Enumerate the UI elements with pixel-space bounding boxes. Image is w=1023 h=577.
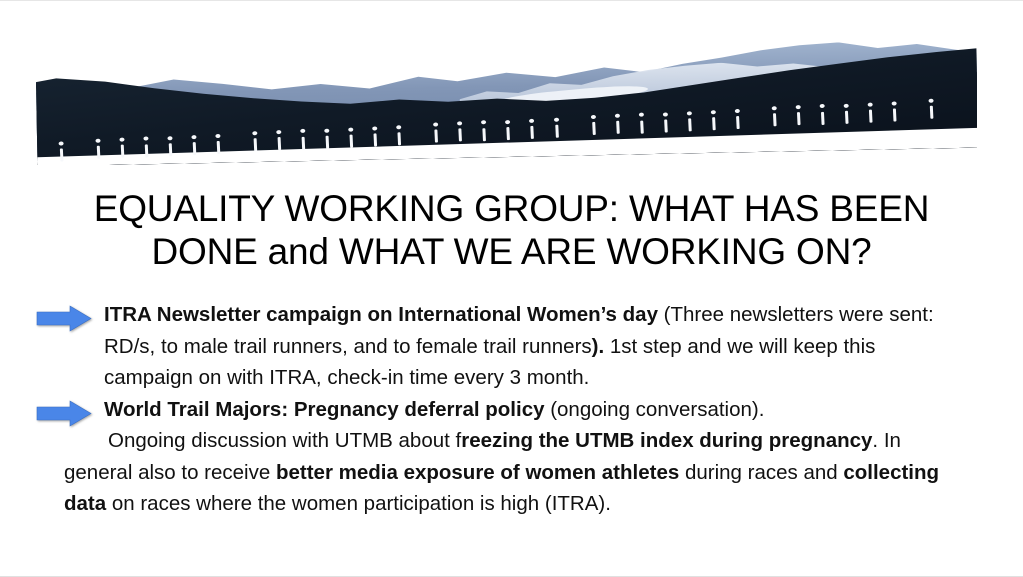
runner-silhouette xyxy=(60,149,64,162)
blue-right-arrow-icon xyxy=(36,400,92,427)
bullet-text-world-trail-majors: World Trail Majors: Pregnancy deferral p… xyxy=(104,398,764,421)
runner-silhouette xyxy=(688,118,692,131)
bullet-item-world-trail-majors: World Trail Majors: Pregnancy deferral p… xyxy=(64,394,964,426)
page-title-line-1: EQUALITY WORKING GROUP: WHAT HAS BEEN xyxy=(94,188,930,229)
slide-canvas: EQUALITY WORKING GROUP: WHAT HAS BEEN DO… xyxy=(0,0,1023,577)
runner-silhouette xyxy=(736,116,740,129)
runner-silhouette xyxy=(773,113,777,126)
runner-silhouette xyxy=(169,143,173,156)
runner-silhouette xyxy=(398,132,402,145)
page-title-line-2: DONE and WHAT WE ARE WORKING ON? xyxy=(151,231,871,272)
runner-silhouette xyxy=(254,138,258,151)
runner-silhouette xyxy=(121,145,125,158)
continuation-paragraph: Ongoing discussion with UTMB about freez… xyxy=(64,425,964,520)
runner-silhouette xyxy=(712,117,716,130)
runner-silhouette xyxy=(302,136,306,149)
runner-silhouette xyxy=(326,135,330,148)
page-title: EQUALITY WORKING GROUP: WHAT HAS BEEN DO… xyxy=(40,187,983,273)
runner-silhouette xyxy=(616,121,620,134)
runner-silhouette xyxy=(278,137,282,150)
runner-silhouette xyxy=(507,127,511,140)
runner-silhouette xyxy=(640,120,644,133)
runner-silhouette xyxy=(821,111,825,124)
runner-silhouette xyxy=(435,130,439,143)
body-content: ITRA Newsletter campaign on Internationa… xyxy=(64,299,964,520)
banner-photo-frame xyxy=(36,7,977,165)
runner-silhouette xyxy=(145,144,149,157)
runner-silhouette xyxy=(555,125,559,138)
runner-silhouette xyxy=(483,128,487,141)
bullet-text-itra-newsletter: ITRA Newsletter campaign on Internationa… xyxy=(104,303,934,389)
runner-silhouette xyxy=(374,133,378,146)
mountain-panorama-photo xyxy=(36,7,977,165)
runner-silhouette xyxy=(664,119,668,132)
runner-silhouette xyxy=(350,134,354,147)
runner-silhouette xyxy=(930,106,934,119)
runner-silhouette xyxy=(97,146,101,159)
runner-silhouette xyxy=(592,122,596,135)
continuation-paragraph-text: Ongoing discussion with UTMB about freez… xyxy=(64,429,939,515)
blue-right-arrow-icon xyxy=(36,305,92,332)
runner-silhouette xyxy=(531,126,535,139)
runner-silhouette xyxy=(217,141,221,154)
runner-silhouette xyxy=(193,142,197,155)
runner-silhouette xyxy=(869,109,873,122)
bullet-item-itra-newsletter: ITRA Newsletter campaign on Internationa… xyxy=(64,299,964,394)
runner-silhouette xyxy=(797,112,801,125)
runner-silhouette xyxy=(845,110,849,123)
runner-silhouette xyxy=(893,109,897,122)
runner-silhouette xyxy=(459,129,463,142)
